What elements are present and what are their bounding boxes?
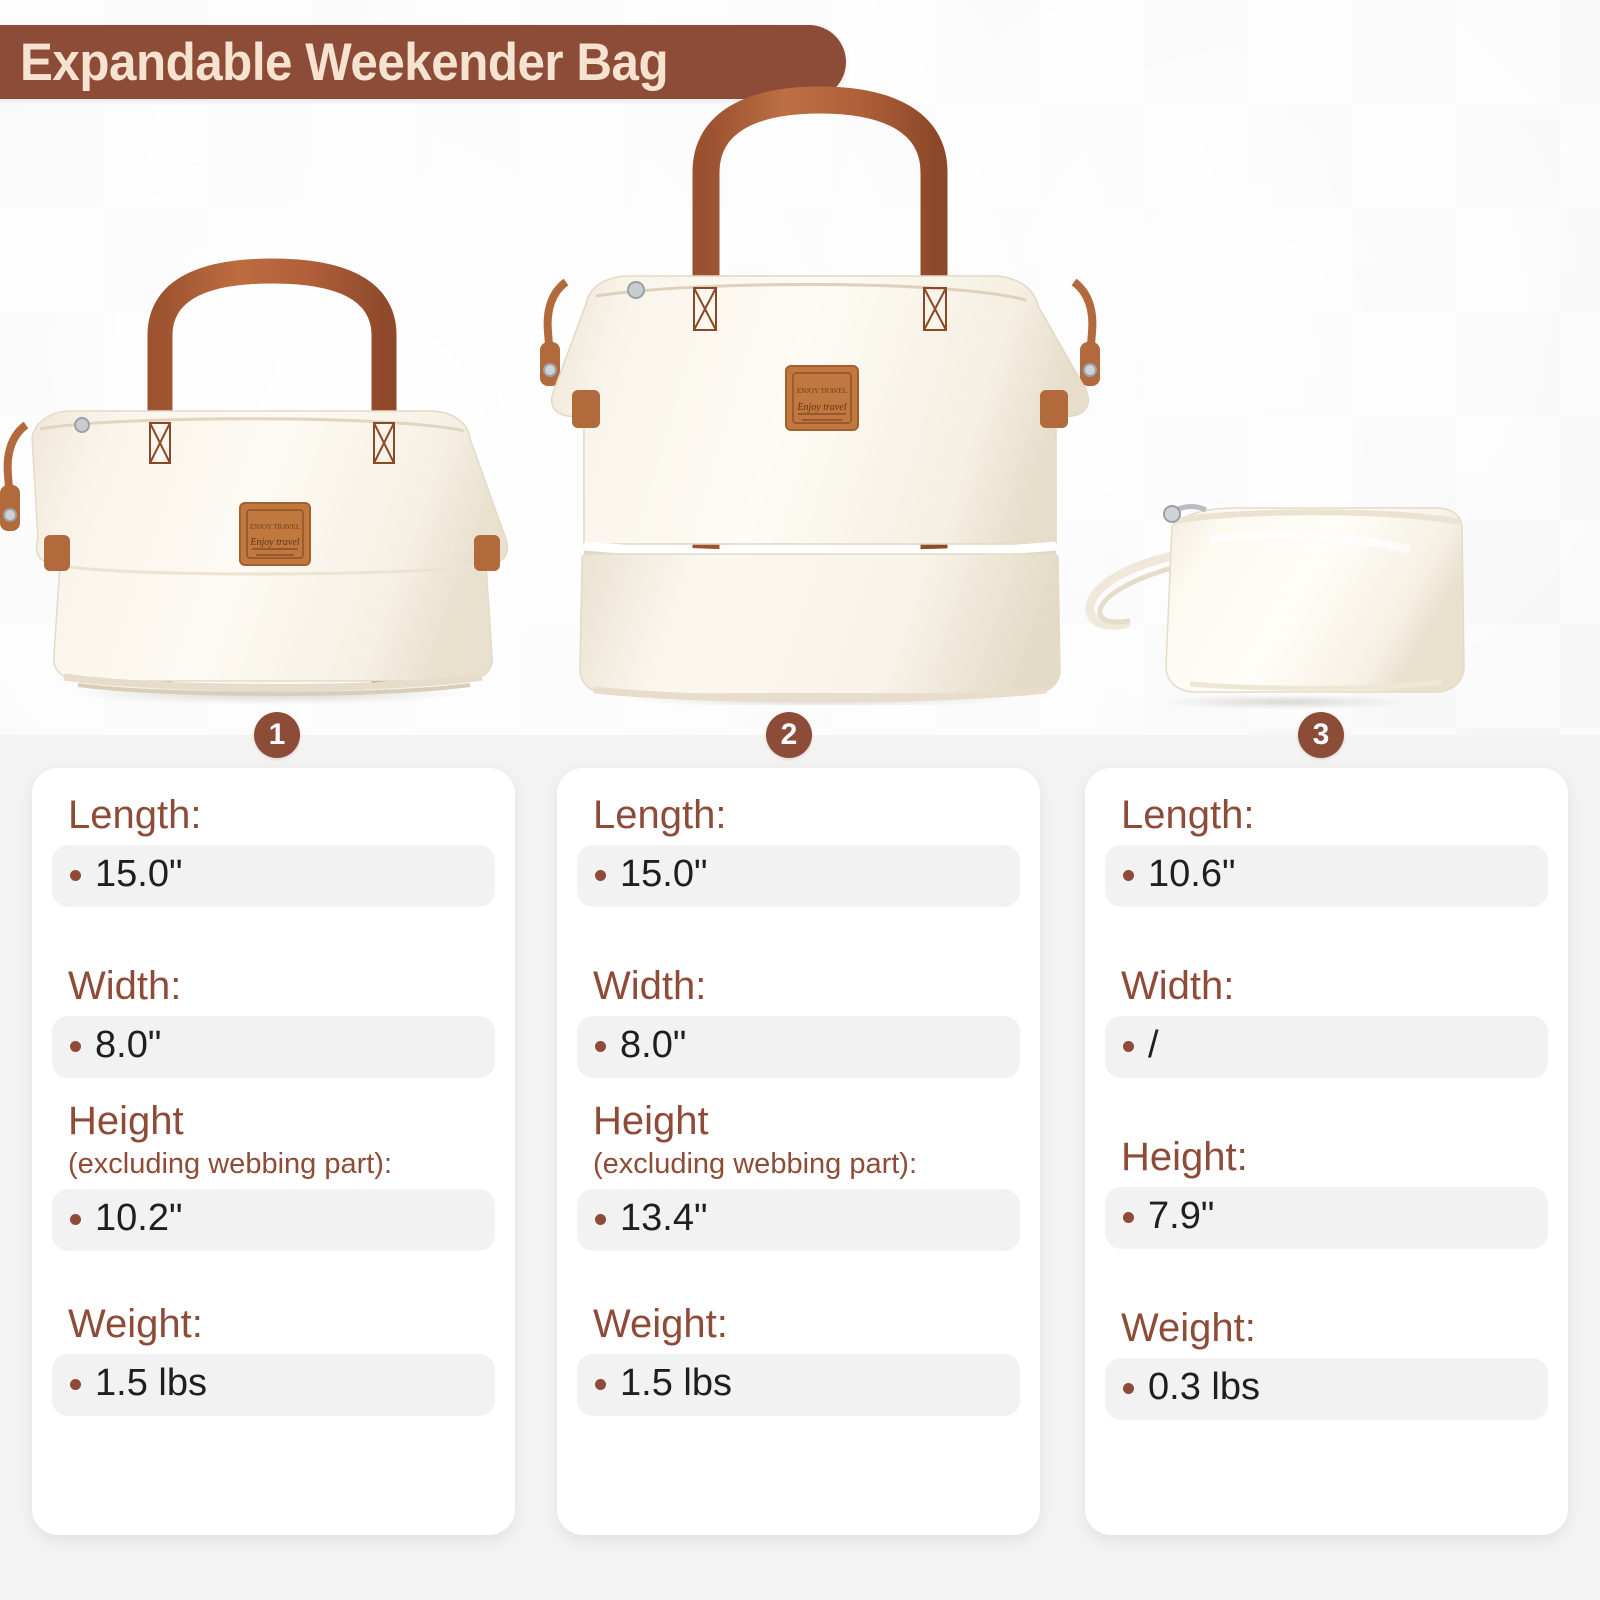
product-image-tote-expanded: ENJOY TRAVEL Enjoy travel bbox=[520, 60, 1120, 705]
spec-row-length: Length: 15.0" bbox=[52, 794, 495, 907]
weight-label: Weight: bbox=[577, 1303, 1020, 1346]
spec-row-length: Length: 10.6" bbox=[1105, 794, 1548, 907]
spec-card-2: Length: 15.0" Width: 8.0" Height (exclud… bbox=[557, 768, 1040, 1535]
weight-label: Weight: bbox=[52, 1303, 495, 1346]
patch-script-text: Enjoy travel bbox=[796, 402, 846, 413]
width-value-pill: 8.0" bbox=[577, 1016, 1020, 1078]
bullet-dot-icon bbox=[70, 1379, 81, 1390]
height-label: Height bbox=[577, 1100, 1020, 1143]
width-value-pill: / bbox=[1105, 1016, 1548, 1078]
zipper-slider bbox=[75, 418, 89, 432]
length-value-pill: 10.6" bbox=[1105, 845, 1548, 907]
height-value: 10.2" bbox=[95, 1199, 182, 1239]
bullet-dot-icon bbox=[70, 870, 81, 881]
spacer bbox=[577, 1078, 1020, 1100]
height-sublabel: (excluding webbing part): bbox=[52, 1149, 495, 1181]
bullet-dot-icon bbox=[70, 1214, 81, 1225]
side-tab-right bbox=[1040, 390, 1068, 428]
product-image-zip-pouch bbox=[1060, 470, 1480, 710]
length-value: 15.0" bbox=[95, 855, 182, 895]
length-label: Length: bbox=[577, 794, 1020, 837]
product-badge-3: 3 bbox=[1298, 712, 1344, 758]
height-value-pill: 13.4" bbox=[577, 1189, 1020, 1251]
product-badge-1: 1 bbox=[254, 712, 300, 758]
zipper-pull-right bbox=[1074, 282, 1100, 386]
spec-row-length: Length: 15.0" bbox=[577, 794, 1020, 907]
spec-row-weight: Weight: 1.5 lbs bbox=[577, 1303, 1020, 1416]
width-value: 8.0" bbox=[620, 1026, 686, 1066]
spacer bbox=[52, 1251, 495, 1303]
side-tab-right bbox=[474, 535, 500, 571]
width-value-pill: 8.0" bbox=[52, 1016, 495, 1078]
height-value: 13.4" bbox=[620, 1199, 707, 1239]
length-value-pill: 15.0" bbox=[52, 845, 495, 907]
weight-value: 1.5 lbs bbox=[620, 1364, 732, 1404]
spec-row-weight: Weight: 0.3 lbs bbox=[1105, 1307, 1548, 1420]
leather-logo-patch: ENJOY TRAVEL Enjoy travel bbox=[786, 366, 858, 430]
spec-row-width: Width: 8.0" bbox=[52, 965, 495, 1078]
spec-row-height: Height (excluding webbing part): 10.2" bbox=[52, 1100, 495, 1251]
zipper-pull-left bbox=[0, 425, 26, 531]
length-value: 15.0" bbox=[620, 855, 707, 895]
width-value: 8.0" bbox=[95, 1026, 161, 1066]
spec-row-weight: Weight: 1.5 lbs bbox=[52, 1303, 495, 1416]
spec-row-width: Width: 8.0" bbox=[577, 965, 1020, 1078]
spec-row-height: Height (excluding webbing part): 13.4" bbox=[577, 1100, 1020, 1251]
bullet-dot-icon bbox=[70, 1041, 81, 1052]
spacer bbox=[1105, 907, 1548, 965]
spec-row-width: Width: / bbox=[1105, 965, 1548, 1078]
height-value: 7.9" bbox=[1148, 1197, 1214, 1237]
weight-value: 0.3 lbs bbox=[1148, 1368, 1260, 1408]
bullet-dot-icon bbox=[595, 1041, 606, 1052]
leather-logo-patch: ENJOY TRAVEL Enjoy travel bbox=[240, 503, 310, 565]
bullet-dot-icon bbox=[595, 1379, 606, 1390]
weight-value-pill: 1.5 lbs bbox=[577, 1354, 1020, 1416]
width-label: Width: bbox=[52, 965, 495, 1008]
width-label: Width: bbox=[577, 965, 1020, 1008]
patch-script-text: Enjoy travel bbox=[249, 537, 299, 548]
spec-row-height: Height: 7.9" bbox=[1105, 1136, 1548, 1249]
product-image-tote-folded: ENJOY TRAVEL Enjoy travel bbox=[0, 185, 540, 705]
spacer bbox=[52, 907, 495, 965]
patch-small-text: ENJOY TRAVEL bbox=[797, 387, 847, 395]
side-tab-left bbox=[44, 535, 70, 571]
side-tab-left bbox=[572, 390, 600, 428]
height-value-pill: 7.9" bbox=[1105, 1187, 1548, 1249]
width-value: / bbox=[1148, 1026, 1159, 1066]
weight-value-pill: 1.5 lbs bbox=[52, 1354, 495, 1416]
spacer bbox=[577, 907, 1020, 965]
patch-small-text: ENJOY TRAVEL bbox=[250, 523, 300, 531]
bullet-dot-icon bbox=[1123, 1383, 1134, 1394]
bullet-dot-icon bbox=[1123, 1041, 1134, 1052]
length-label: Length: bbox=[52, 794, 495, 837]
length-value: 10.6" bbox=[1148, 855, 1235, 895]
spacer bbox=[1105, 1078, 1548, 1136]
bullet-dot-icon bbox=[595, 1214, 606, 1225]
height-value-pill: 10.2" bbox=[52, 1189, 495, 1251]
length-label: Length: bbox=[1105, 794, 1548, 837]
length-value-pill: 15.0" bbox=[577, 845, 1020, 907]
zipper-slider bbox=[628, 282, 644, 298]
weight-value-pill: 0.3 lbs bbox=[1105, 1358, 1548, 1420]
spacer bbox=[52, 1078, 495, 1100]
bullet-dot-icon bbox=[1123, 1212, 1134, 1223]
height-label: Height bbox=[52, 1100, 495, 1143]
pouch-shadow bbox=[1160, 694, 1410, 710]
height-sublabel: (excluding webbing part): bbox=[577, 1149, 1020, 1181]
width-label: Width: bbox=[1105, 965, 1548, 1008]
bullet-dot-icon bbox=[595, 870, 606, 881]
spacer bbox=[577, 1251, 1020, 1303]
spec-card-3: Length: 10.6" Width: / Height: 7.9" Weig… bbox=[1085, 768, 1568, 1535]
bag-expansion-panel bbox=[580, 554, 1060, 694]
weight-value: 1.5 lbs bbox=[95, 1364, 207, 1404]
product-badge-2: 2 bbox=[766, 712, 812, 758]
infographic-page: Expandable Weekender Bag bbox=[0, 0, 1600, 1600]
spec-card-1: Length: 15.0" Width: 8.0" Height (exclud… bbox=[32, 768, 515, 1535]
bullet-dot-icon bbox=[1123, 870, 1134, 881]
height-label: Height: bbox=[1105, 1136, 1548, 1179]
weight-label: Weight: bbox=[1105, 1307, 1548, 1350]
spacer bbox=[1105, 1249, 1548, 1307]
